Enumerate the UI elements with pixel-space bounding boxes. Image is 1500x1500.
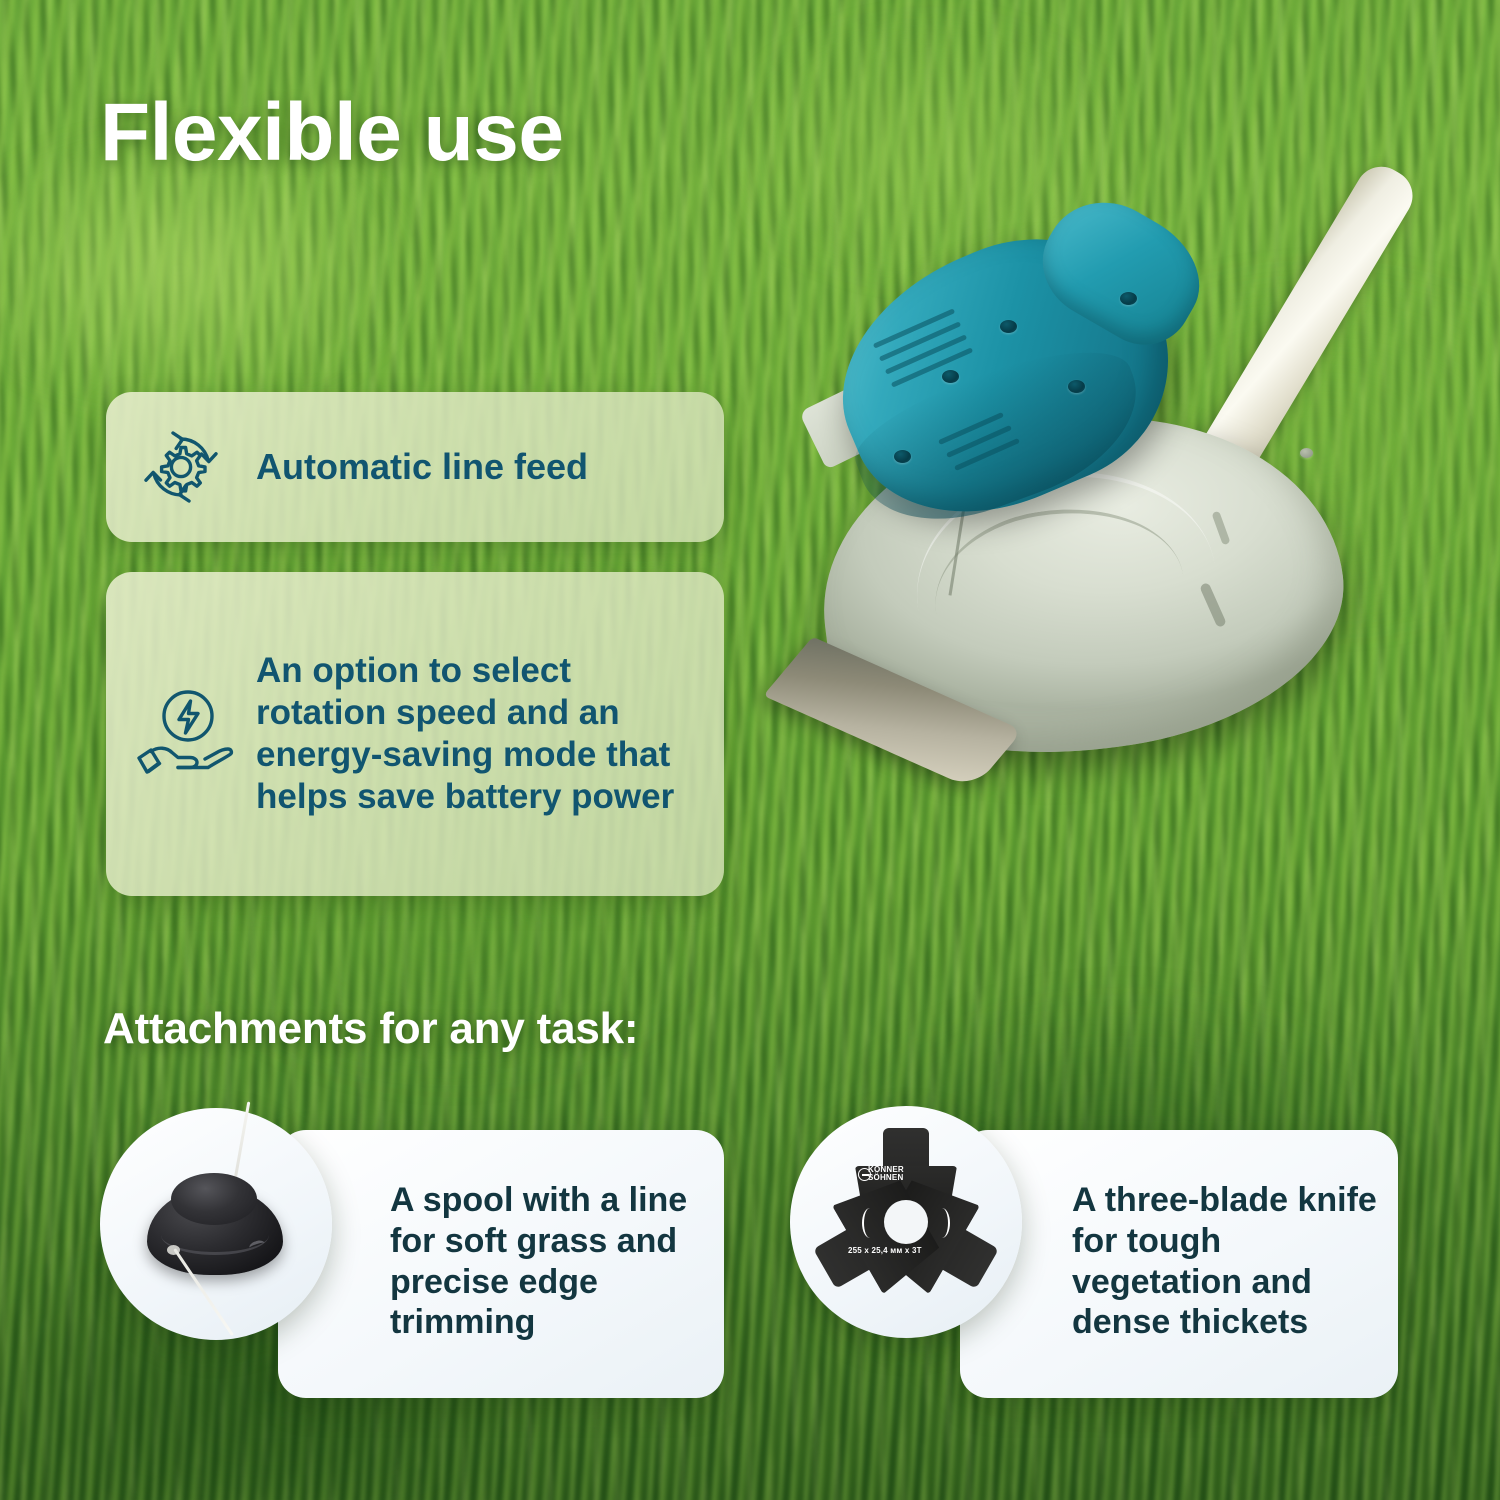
blade-center-hole xyxy=(884,1200,928,1244)
housing-screw xyxy=(942,370,959,383)
feature-label: Automatic line feed xyxy=(256,446,610,488)
three-blade-knife-photo: KÖNNERSÖHNEN 255 x 25,4 мм x 3T xyxy=(790,1106,1022,1338)
feature-card-speed-and-energy-mode: An option to select rotation speed and a… xyxy=(106,572,724,896)
page-title: Flexible use xyxy=(100,86,563,180)
housing-screw xyxy=(1068,380,1085,393)
housing-screw xyxy=(894,450,911,463)
attachment-label: A spool with a line for soft grass and p… xyxy=(390,1180,704,1343)
trimmer-head-product-photo xyxy=(760,120,1500,980)
attachment-label: A three-blade knife for tough vegetation… xyxy=(1072,1180,1378,1343)
attachment-card-blade: A three-blade knife for tough vegetation… xyxy=(960,1130,1398,1398)
attachments-section-title: Attachments for any task: xyxy=(103,1004,638,1054)
trimmer-spool-photo xyxy=(100,1108,332,1340)
blade-spec-text: 255 x 25,4 мм x 3T xyxy=(848,1246,922,1255)
blade-brand-text: KÖNNERSÖHNEN xyxy=(868,1166,904,1183)
housing-screw xyxy=(1120,292,1137,305)
brand-line-2: SÖHNEN xyxy=(868,1173,903,1182)
attachment-card-spool: A spool with a line for soft grass and p… xyxy=(278,1130,724,1398)
feature-label: An option to select rotation speed and a… xyxy=(256,650,724,818)
hand-energy-icon xyxy=(106,678,256,790)
blade-arc-mark-right xyxy=(934,1208,950,1238)
housing-screw xyxy=(1000,320,1017,333)
gear-cycle-icon xyxy=(106,415,256,519)
feature-card-automatic-line-feed: Automatic line feed xyxy=(106,392,724,542)
guard-screw xyxy=(1300,448,1313,458)
blade-arc-mark-left xyxy=(862,1208,878,1238)
